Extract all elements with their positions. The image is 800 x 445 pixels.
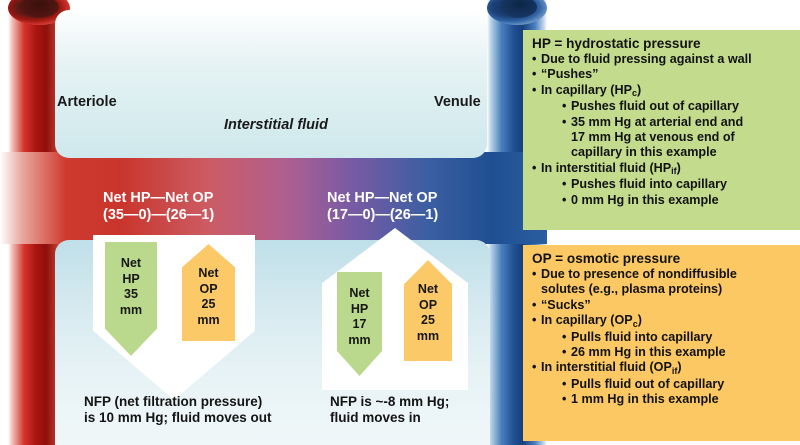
op-cap-item-0: Pulls fluid into capillary xyxy=(562,330,793,345)
venous-op-line4: mm xyxy=(417,329,439,345)
arterial-op-line1: Net xyxy=(198,266,218,282)
op-cap-sub: c xyxy=(633,319,638,329)
hp-if-item-0: Pushes fluid into capillary xyxy=(562,177,793,192)
arterial-op-line2: OP xyxy=(199,282,217,298)
hp-heading-bold: HP xyxy=(532,36,551,51)
arteriole-label: Arteriole xyxy=(57,94,117,110)
hp-cap-pre: In capillary (HP xyxy=(541,83,632,97)
arterial-hp-line2: HP xyxy=(122,272,139,288)
interstitial-fluid-region-top xyxy=(55,10,487,158)
op-if-item-0: Pulls fluid out of capillary xyxy=(562,377,793,392)
op-item-1: “Sucks” xyxy=(532,298,793,313)
venous-op-line3: 25 xyxy=(421,313,435,329)
arterial-nfp-caption: NFP (net filtration pressure) is 10 mm H… xyxy=(84,394,272,426)
venous-hp-line1: Net xyxy=(349,286,369,302)
venous-op-line1: Net xyxy=(418,282,438,298)
hp-if-post: ) xyxy=(677,161,681,175)
hp-if-pre: In interstitial fluid (HP xyxy=(541,161,671,175)
arterial-hp-line3: 35 xyxy=(124,287,138,303)
venous-hp-line2: HP xyxy=(351,302,368,318)
op-if-sub: if xyxy=(672,366,678,376)
hydrostatic-pressure-panel: HP = hydrostatic pressure Due to fluid p… xyxy=(523,30,800,230)
arterial-equation-line1: Net HP—Net OP xyxy=(103,190,213,206)
hp-panel-list: Due to fluid pressing against a wall “Pu… xyxy=(532,52,793,208)
hp-cap-item-0: Pushes fluid out of capillary xyxy=(562,99,793,114)
arterial-equation-line2: (35—0)—(26—1) xyxy=(103,207,214,223)
arterial-end-equation: Net HP—Net OP (35—0)—(26—1) xyxy=(103,190,214,224)
osmotic-pressure-panel: OP = osmotic pressure Due to presence of… xyxy=(523,245,800,441)
venous-equation-line2: (17—0)—(26—1) xyxy=(327,207,438,223)
op-item-0: Due to presence of nondiffusible xyxy=(532,267,793,282)
venous-end-equation: Net HP—Net OP (17—0)—(26—1) xyxy=(327,190,438,224)
op-interstitial-header: In interstitial fluid (OPif) xyxy=(532,360,793,376)
hp-cap-cont-0: 17 mm Hg at venous end of xyxy=(562,130,793,145)
interstitial-fluid-label: Interstitial fluid xyxy=(224,117,328,133)
venous-hp-line3: 17 xyxy=(353,317,367,333)
hp-item-1: “Pushes” xyxy=(532,67,793,82)
op-item-0-cont: solutes (e.g., plasma proteins) xyxy=(532,282,793,297)
op-heading-bold: OP xyxy=(532,251,551,266)
op-if-item-1: 1 mm Hg in this example xyxy=(562,392,793,407)
venous-hp-line4: mm xyxy=(348,333,370,349)
arterial-op-line3: 25 xyxy=(202,297,216,313)
figure-canvas: Arteriole Venule Interstitial fluid Capi… xyxy=(0,0,800,445)
op-cap-post: ) xyxy=(638,313,642,327)
op-capillary-header: In capillary (OPc) xyxy=(532,313,793,329)
venous-nfp-caption: NFP is ~-8 mm Hg; fluid moves in xyxy=(330,394,449,426)
hp-if-item-1: 0 mm Hg in this example xyxy=(562,193,793,208)
op-if-post: ) xyxy=(677,360,681,374)
hp-item-0: Due to fluid pressing against a wall xyxy=(532,52,793,67)
capillary-band xyxy=(0,152,547,244)
op-if-pre: In interstitial fluid (OP xyxy=(541,360,672,374)
arterial-hp-line1: Net xyxy=(121,256,141,272)
hp-panel-heading: HP = hydrostatic pressure xyxy=(532,36,793,52)
op-heading-rest: = osmotic pressure xyxy=(551,251,680,266)
hp-capillary-header: In capillary (HPc) xyxy=(532,83,793,99)
op-panel-heading: OP = osmotic pressure xyxy=(532,251,793,267)
op-panel-list: Due to presence of nondiffusible solutes… xyxy=(532,267,793,408)
hp-cap-post: ) xyxy=(637,83,641,97)
venous-equation-line1: Net HP—Net OP xyxy=(327,190,437,206)
hp-cap-item-1: 35 mm Hg at arterial end and xyxy=(562,115,793,130)
hp-heading-rest: = hydrostatic pressure xyxy=(551,36,701,51)
op-cap-pre: In capillary (OP xyxy=(541,313,633,327)
op-cap-item-1: 26 mm Hg in this example xyxy=(562,345,793,360)
hp-cap-sub: c xyxy=(632,88,637,98)
arterial-hp-line4: mm xyxy=(120,303,142,319)
hp-interstitial-header: In interstitial fluid (HPif) xyxy=(532,161,793,177)
venule-label: Venule xyxy=(434,94,481,110)
arterial-op-line4: mm xyxy=(197,313,219,329)
venous-op-line2: OP xyxy=(419,298,437,314)
hp-if-sub: if xyxy=(671,166,677,176)
hp-cap-cont-1: capillary in this example xyxy=(562,145,793,160)
